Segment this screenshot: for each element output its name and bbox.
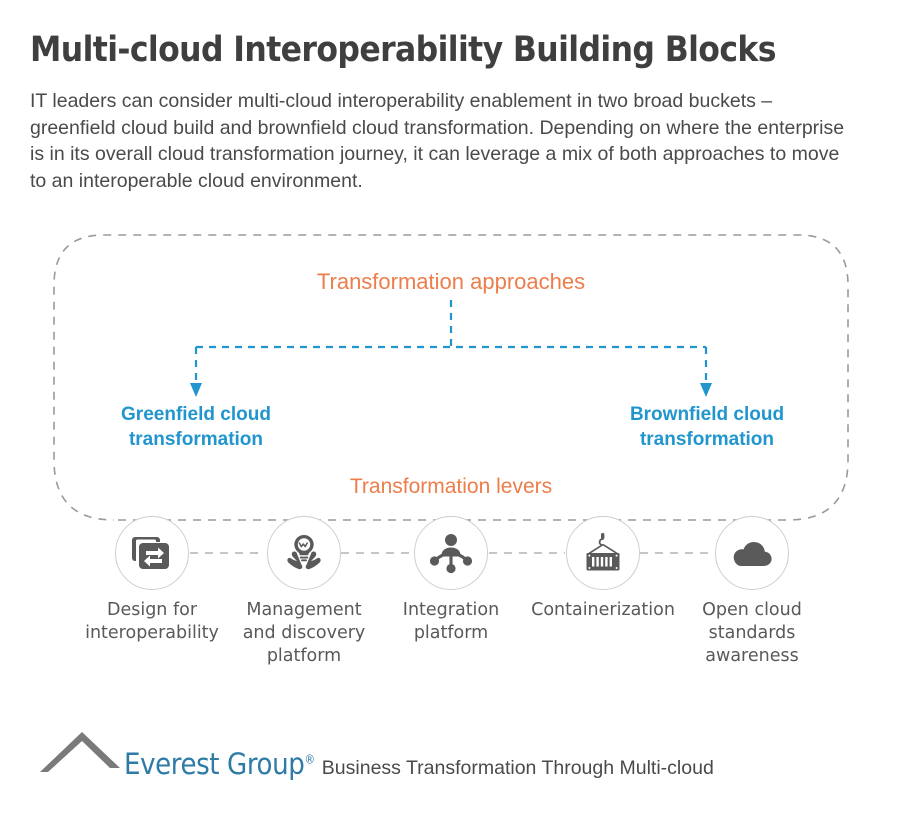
footer-tagline: Business Transformation Through Multi-cl… [322, 757, 714, 779]
diagram-container: Transformation approaches Greenfield clo… [0, 225, 902, 695]
data-exchange-icon [131, 533, 173, 573]
lever-label: Open cloud standards awareness [677, 599, 827, 668]
lever-label: Integration platform [376, 599, 526, 645]
lever-open-cloud-standards-awareness[interactable]: Open cloud standards awareness [677, 516, 827, 668]
lever-label: Containerization [528, 599, 678, 622]
everest-group-logo-text: Everest Group® [124, 750, 315, 779]
lever-label: Management and discovery platform [229, 599, 379, 668]
lever-icon-circle [715, 516, 789, 590]
footer: Everest Group® Business Transformation T… [38, 728, 714, 779]
lever-design-for-interoperability[interactable]: Design for interoperability [77, 516, 227, 645]
lever-management-and-discovery-platform[interactable]: Management and discovery platform [229, 516, 379, 668]
cloud-icon [729, 537, 775, 569]
lever-icon-circle [414, 516, 488, 590]
branch-greenfield: Greenfield cloud transformation [96, 402, 296, 452]
shipping-container-icon [580, 532, 626, 574]
lever-containerization[interactable]: Containerization [528, 516, 678, 622]
infographic-page: Multi-cloud Interoperability Building Bl… [0, 0, 902, 823]
branch-brownfield: Brownfield cloud transformation [607, 402, 807, 452]
registered-mark: ® [304, 752, 314, 766]
person-network-icon [428, 532, 474, 574]
lever-label: Design for interoperability [77, 599, 227, 645]
lever-icon-circle [566, 516, 640, 590]
transformation-levers-label: Transformation levers [0, 475, 902, 499]
page-title: Multi-cloud Interoperability Building Bl… [30, 30, 880, 70]
lever-integration-platform[interactable]: Integration platform [376, 516, 526, 645]
intro-paragraph: IT leaders can consider multi-cloud inte… [30, 88, 860, 194]
transformation-approaches-label: Transformation approaches [0, 269, 902, 295]
lever-icon-circle [115, 516, 189, 590]
hands-lightbulb-icon [282, 532, 326, 574]
lever-icon-circle [267, 516, 341, 590]
mountain-peak-icon [38, 728, 122, 779]
